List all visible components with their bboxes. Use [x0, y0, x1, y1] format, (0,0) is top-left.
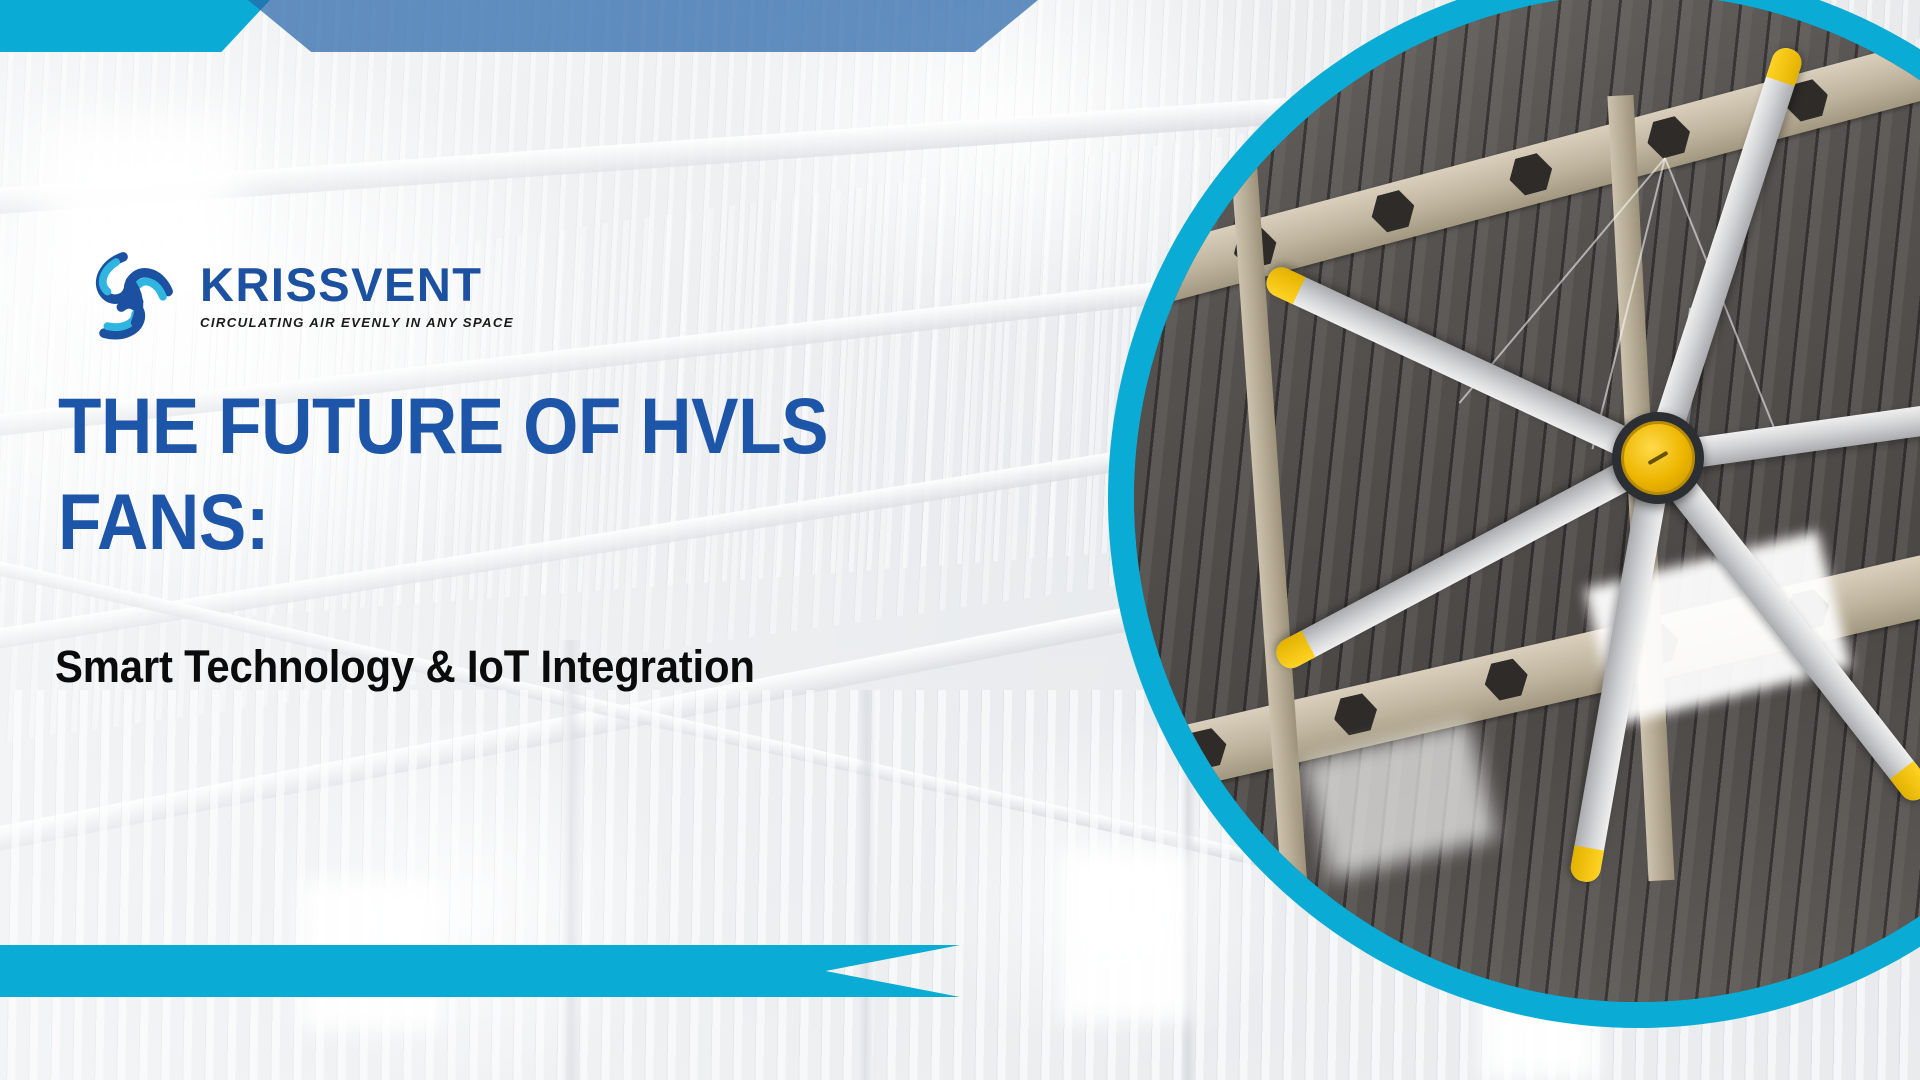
brand-tagline: CIRCULATING AIR EVENLY IN ANY SPACE — [200, 315, 514, 330]
banner-canvas: KRISSVENT CIRCULATING AIR EVENLY IN ANY … — [0, 0, 1920, 1080]
headline-line-1: THE FUTURE OF HVLS — [58, 381, 828, 470]
top-ribbon — [0, 0, 1080, 52]
swirl-fan-logo-icon — [78, 243, 182, 347]
brand-logo[interactable]: KRISSVENT CIRCULATING AIR EVENLY IN ANY … — [78, 243, 514, 347]
bottom-ribbon — [0, 945, 960, 997]
circular-photo — [1134, 0, 1920, 1002]
top-ribbon-cyan-segment — [0, 0, 270, 52]
top-ribbon-blue-segment — [248, 0, 1038, 52]
fan-hub — [1621, 421, 1695, 495]
brand-lockup-text: KRISSVENT CIRCULATING AIR EVENLY IN ANY … — [200, 261, 514, 330]
circular-photo-frame — [1108, 0, 1920, 1028]
headline-line-2: FANS: — [58, 474, 868, 570]
brand-name: KRISSVENT — [200, 261, 514, 308]
page-subtitle: Smart Technology & IoT Integration — [55, 640, 985, 694]
bottom-ribbon-cyan-arrow — [0, 945, 960, 997]
page-title: THE FUTURE OF HVLS FANS: — [58, 378, 868, 571]
